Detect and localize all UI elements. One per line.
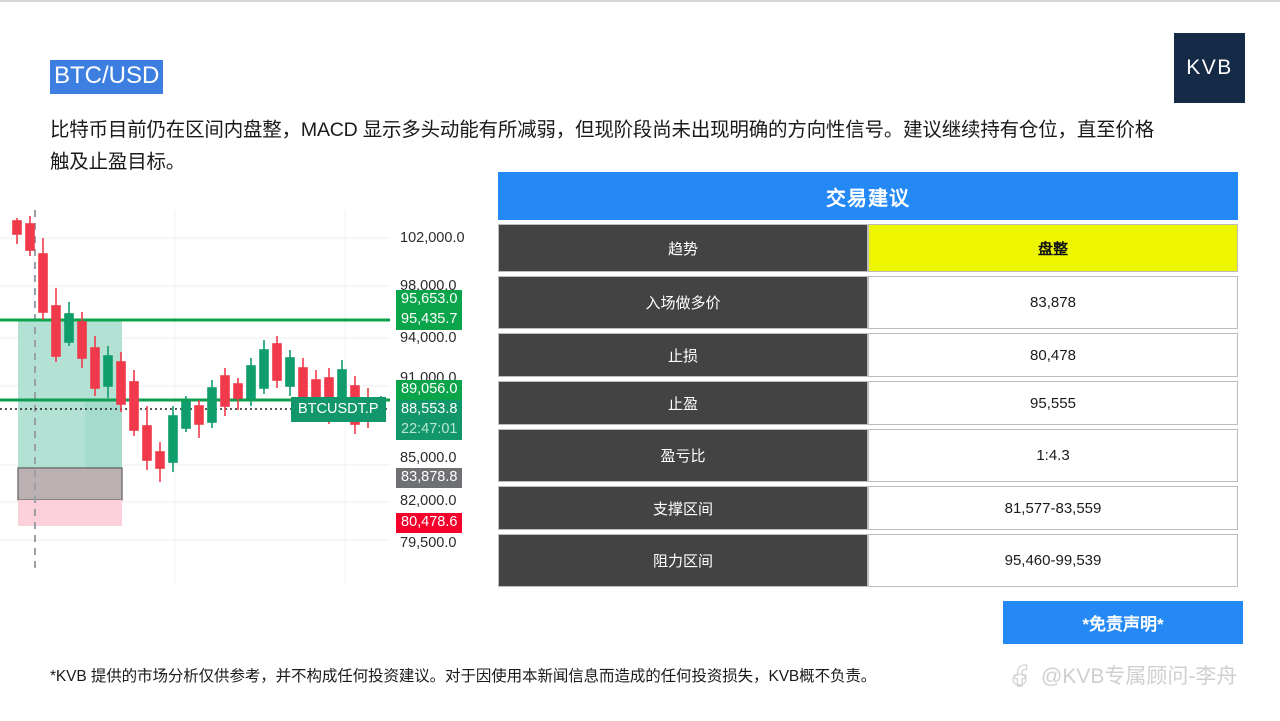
watermark: @KVB专属顾问-李舟 [1012, 660, 1237, 690]
row-value: 1:4.3 [868, 429, 1238, 482]
page-title: BTC/USD [50, 60, 163, 94]
table-title: 交易建议 [498, 172, 1238, 220]
symbol-pill: BTCUSDT.P [291, 397, 386, 422]
row-label: 支撑区间 [498, 486, 868, 530]
row-label: 阻力区间 [498, 534, 868, 587]
row-label: 入场做多价 [498, 276, 868, 329]
row-label: 止盈 [498, 381, 868, 425]
table-row: 趋势 盘整 [498, 224, 1238, 272]
watermark-logo-icon [1012, 663, 1034, 687]
footer-disclaimer: *KVB 提供的市场分析仅供参考，并不构成任何投资建议。对于因使用本新闻信息而造… [50, 666, 950, 688]
watermark-text: @KVB专属顾问-李舟 [1041, 660, 1237, 690]
price-badge-target-line: 95,435.7 [396, 310, 462, 330]
kvb-logo-text: KVB [1186, 56, 1233, 80]
axis-tick: 102,000.0 [400, 230, 465, 246]
slide-root: KVB BTC/USD 比特币目前仍在区间内盘整，MACD 显示多头动能有所减弱… [0, 0, 1280, 721]
row-value: 80,478 [868, 333, 1238, 377]
price-badge-stop: 80,478.6 [396, 513, 462, 533]
row-value: 盘整 [868, 224, 1238, 272]
entry-zone [18, 468, 122, 500]
price-badge-countdown: 22:47:01 [396, 420, 462, 440]
row-label: 止损 [498, 333, 868, 377]
row-label: 盈亏比 [498, 429, 868, 482]
top-divider [0, 0, 1280, 2]
trade-recommendation-table: 交易建议 趋势 盘整 入场做多价 83,878 止损 80,478 止盈 95,… [498, 172, 1238, 587]
table-row: 止损 80,478 [498, 333, 1238, 377]
table-row: 阻力区间 95,460-99,539 [498, 534, 1238, 587]
table-row: 盈亏比 1:4.3 [498, 429, 1238, 482]
axis-tick: 82,000.0 [400, 493, 456, 509]
row-label: 趋势 [498, 224, 868, 272]
table-row: 支撑区间 81,577-83,559 [498, 486, 1238, 530]
table-row: 止盈 95,555 [498, 381, 1238, 425]
row-value: 95,555 [868, 381, 1238, 425]
price-axis: 102,000.0 98,000.0 95,653.0 95,435.7 94,… [392, 210, 488, 585]
row-value: 83,878 [868, 276, 1238, 329]
price-badge-target-upper: 95,653.0 [396, 290, 462, 310]
kvb-logo: KVB [1174, 33, 1245, 103]
row-value: 95,460-99,539 [868, 534, 1238, 587]
axis-tick: 79,500.0 [400, 535, 456, 551]
analysis-description: 比特币目前仍在区间内盘整，MACD 显示多头动能有所减弱，但现阶段尚未出现明确的… [50, 114, 1160, 178]
price-badge-entry: 83,878.8 [396, 468, 462, 488]
table-row: 入场做多价 83,878 [498, 276, 1238, 329]
disclaimer-button[interactable]: *免责声明* [1003, 601, 1243, 644]
axis-tick: 94,000.0 [400, 330, 456, 346]
stop-zone [18, 500, 122, 526]
price-badge-last-price: 88,553.8 [396, 400, 462, 420]
price-badge-last-high: 89,056.0 [396, 380, 462, 400]
row-value: 81,577-83,559 [868, 486, 1238, 530]
axis-tick: 85,000.0 [400, 450, 456, 466]
